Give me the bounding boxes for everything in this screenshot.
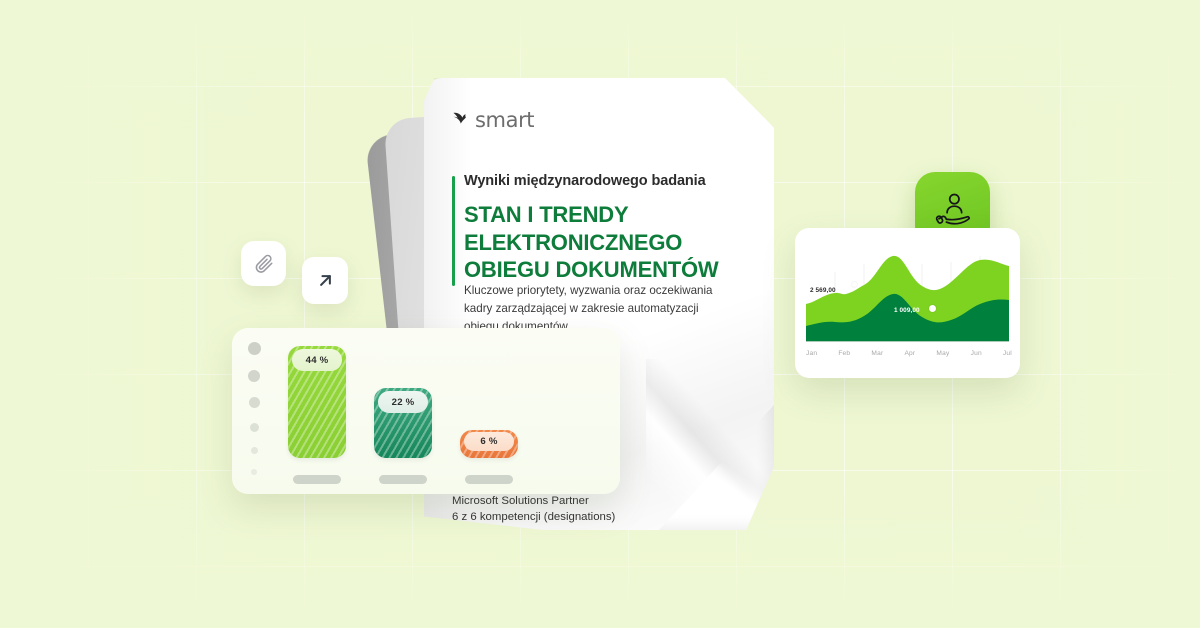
bar-chart-plot: 44 % 22 % 6 % [270, 338, 606, 484]
bar-label-placeholder-1 [293, 475, 341, 484]
x-tick-may: May [936, 350, 949, 357]
area-annotation-base: 1 009,00 [894, 307, 920, 314]
document-kicker: Wyniki międzynarodowego badania [464, 172, 752, 191]
bar-2-value: 22 % [378, 391, 428, 413]
document-title: STAN I TRENDY ELEKTRONICZNEGO OBIEGU DOK… [464, 201, 752, 284]
x-tick-mar: Mar [871, 350, 883, 357]
x-tick-jun: Jun [971, 350, 982, 357]
area-chart-card: 2 569,00 1 009,00 Jan Feb Mar Apr May Ju… [795, 228, 1020, 378]
open-link-tile[interactable] [302, 257, 348, 304]
bar-3[interactable]: 6 % [460, 430, 518, 458]
bar-group-1[interactable]: 44 % [288, 346, 346, 458]
hand-holding-person-icon [932, 190, 974, 230]
title-line-2: ELEKTRONICZNEGO [464, 229, 752, 257]
arrow-up-right-icon [315, 270, 336, 291]
organizer-line-2: Microsoft Solutions Partner [452, 493, 752, 510]
background-fade-right [1000, 0, 1200, 628]
area-annotation-total: 2 569,00 [810, 287, 836, 294]
poster-canvas: smart Wyniki międzynarodowego badania ST… [0, 0, 1200, 628]
bar-label-placeholder-2 [379, 475, 427, 484]
bar-label-placeholder-3 [465, 475, 513, 484]
x-tick-jan: Jan [806, 350, 817, 357]
heading-accent-bar [452, 176, 455, 286]
bar-group-2[interactable]: 22 % [374, 388, 432, 458]
bar-1[interactable]: 44 % [288, 346, 346, 458]
paperclip-icon [253, 253, 275, 275]
organizer-line-3: 6 z 6 kompetencji (designations) [452, 509, 752, 526]
bar-group-3[interactable]: 6 % [460, 430, 518, 458]
area-point-marker-base [929, 305, 936, 312]
x-tick-feb: Feb [838, 350, 850, 357]
bar-chart-card: 44 % 22 % 6 % [232, 328, 620, 494]
attachment-tile[interactable] [241, 241, 286, 286]
title-line-1: STAN I TRENDY [464, 201, 752, 229]
x-tick-apr: Apr [904, 350, 915, 357]
area-point-marker-total [852, 282, 857, 287]
bar-3-value: 6 % [464, 432, 514, 451]
bird-icon [452, 110, 474, 130]
x-tick-jul: Jul [1003, 350, 1012, 357]
brand-name: smart [475, 108, 534, 132]
area-chart-plot [806, 242, 1009, 342]
bar-chart-axis-ticks [246, 342, 262, 472]
bar-1-value: 44 % [292, 349, 342, 371]
brand-logo: smart [452, 108, 534, 132]
background-fade-left [0, 0, 290, 628]
document-heading-block: Wyniki międzynarodowego badania STAN I T… [452, 172, 752, 284]
bar-2[interactable]: 22 % [374, 388, 432, 458]
area-chart-x-axis: Jan Feb Mar Apr May Jun Jul [806, 350, 1012, 357]
title-line-3: OBIEGU DOKUMENTÓW [464, 256, 752, 284]
